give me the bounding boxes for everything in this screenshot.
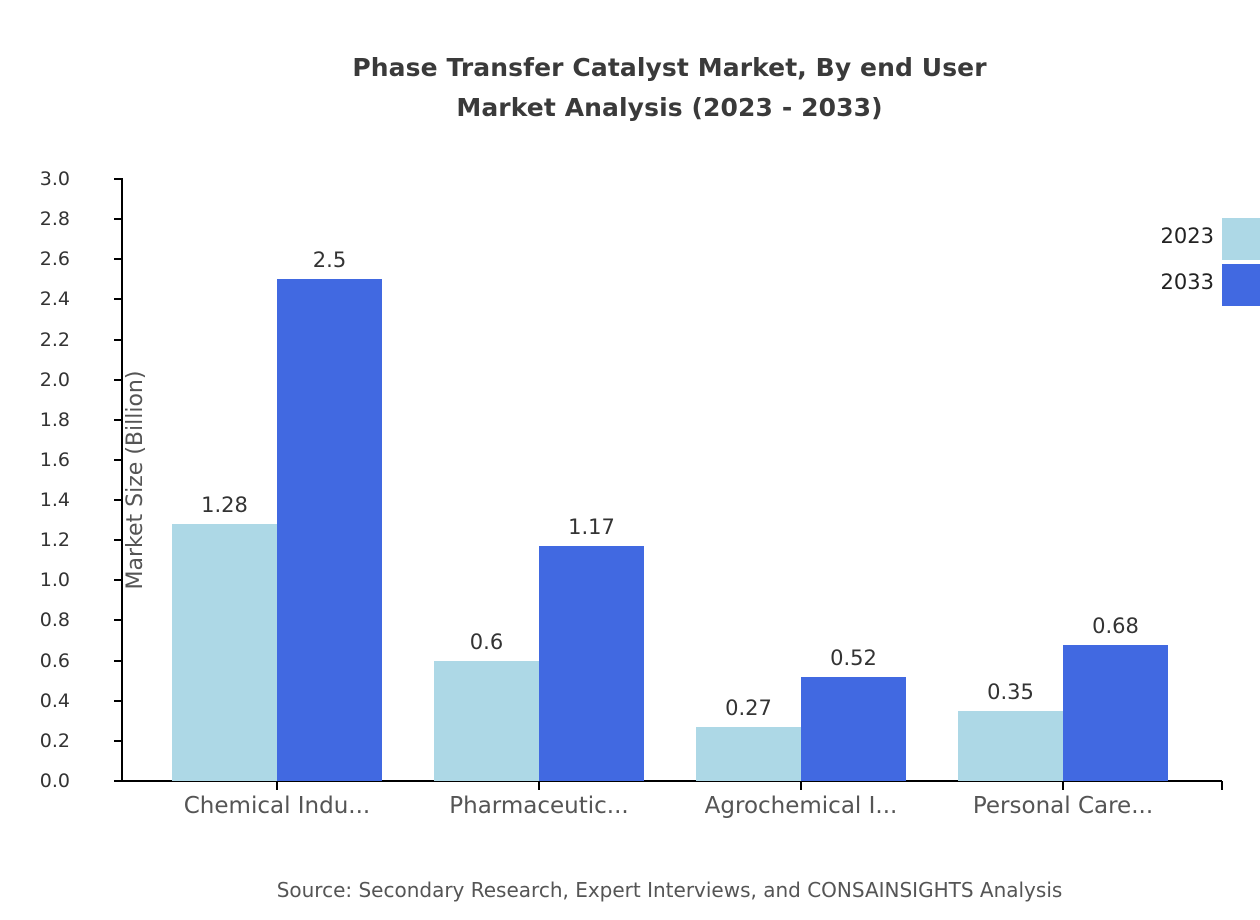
bar-2023-2[interactable] — [696, 727, 801, 781]
y-tick-mark — [114, 178, 122, 180]
legend-item-2023[interactable]: 2023 — [1138, 218, 1260, 264]
y-tick-mark — [114, 499, 122, 501]
x-tick-mark — [538, 781, 540, 790]
y-tick-mark — [114, 379, 122, 381]
y-tick-label: 2.0 — [10, 371, 70, 390]
y-tick-mark — [114, 459, 122, 461]
y-tick-mark — [114, 298, 122, 300]
bar-value-label: 1.17 — [512, 517, 672, 538]
y-tick-label: 2.8 — [10, 210, 70, 229]
x-tick-mark — [1062, 781, 1064, 790]
y-tick-label: 3.0 — [10, 170, 70, 189]
chart-figure: Phase Transfer Catalyst Market, By end U… — [0, 0, 1260, 920]
y-tick-mark — [114, 339, 122, 341]
x-tick-label: Chemical Indu... — [127, 793, 427, 819]
bar-value-label: 0.52 — [774, 648, 934, 669]
y-tick-label: 1.2 — [10, 531, 70, 550]
y-tick-mark — [114, 419, 122, 421]
x-tick-label: Agrochemical I... — [651, 793, 951, 819]
y-tick-label: 2.4 — [10, 290, 70, 309]
x-tick-mark — [800, 781, 802, 790]
legend-item-2033[interactable]: 2033 — [1138, 264, 1260, 310]
y-tick-label: 0.8 — [10, 611, 70, 630]
plot-area: Market Size (Billion) 0.00.20.40.60.81.0… — [122, 179, 1222, 781]
y-axis-label: Market Size (Billion) — [123, 371, 148, 590]
x-tick-label: Personal Care... — [913, 793, 1213, 819]
chart-title-line-2: Market Analysis (2023 - 2033) — [0, 88, 1260, 128]
y-tick-mark — [114, 539, 122, 541]
x-tick-mark — [276, 781, 278, 790]
y-tick-label: 1.8 — [10, 411, 70, 430]
bar-2033-0[interactable] — [277, 279, 382, 781]
y-tick-mark — [114, 740, 122, 742]
bar-2033-2[interactable] — [801, 677, 906, 781]
chart-title: Phase Transfer Catalyst Market, By end U… — [0, 48, 1260, 128]
legend-label-2023: 2023 — [1138, 226, 1214, 247]
chart-title-line-1: Phase Transfer Catalyst Market, By end U… — [0, 48, 1260, 88]
bar-value-label: 0.68 — [1036, 616, 1196, 637]
y-tick-label: 1.0 — [10, 571, 70, 590]
bar-2023-3[interactable] — [958, 711, 1063, 781]
bar-2033-3[interactable] — [1063, 645, 1168, 781]
y-tick-label: 0.6 — [10, 652, 70, 671]
legend-swatch-2033 — [1222, 264, 1260, 306]
y-tick-mark — [114, 660, 122, 662]
legend-label-2033: 2033 — [1138, 272, 1214, 293]
bar-2023-1[interactable] — [434, 661, 539, 781]
legend-swatch-2023 — [1222, 218, 1260, 260]
y-tick-label: 1.6 — [10, 451, 70, 470]
bar-2033-1[interactable] — [539, 546, 644, 781]
y-tick-label: 1.4 — [10, 491, 70, 510]
x-axis-end-tick — [1221, 781, 1223, 790]
y-tick-mark — [114, 579, 122, 581]
y-tick-mark — [114, 780, 122, 782]
y-tick-label: 0.4 — [10, 692, 70, 711]
y-tick-mark — [114, 700, 122, 702]
source-note: Source: Secondary Research, Expert Inter… — [0, 878, 1260, 902]
y-tick-label: 0.2 — [10, 732, 70, 751]
y-tick-mark — [114, 218, 122, 220]
bar-2023-0[interactable] — [172, 524, 277, 781]
y-tick-label: 2.6 — [10, 250, 70, 269]
chart-legend: 2023 2033 — [1138, 218, 1260, 310]
y-tick-label: 0.0 — [10, 772, 70, 791]
y-tick-mark — [114, 258, 122, 260]
y-tick-label: 2.2 — [10, 331, 70, 350]
x-tick-label: Pharmaceutic... — [389, 793, 689, 819]
bar-value-label: 2.5 — [250, 250, 410, 271]
y-tick-mark — [114, 619, 122, 621]
